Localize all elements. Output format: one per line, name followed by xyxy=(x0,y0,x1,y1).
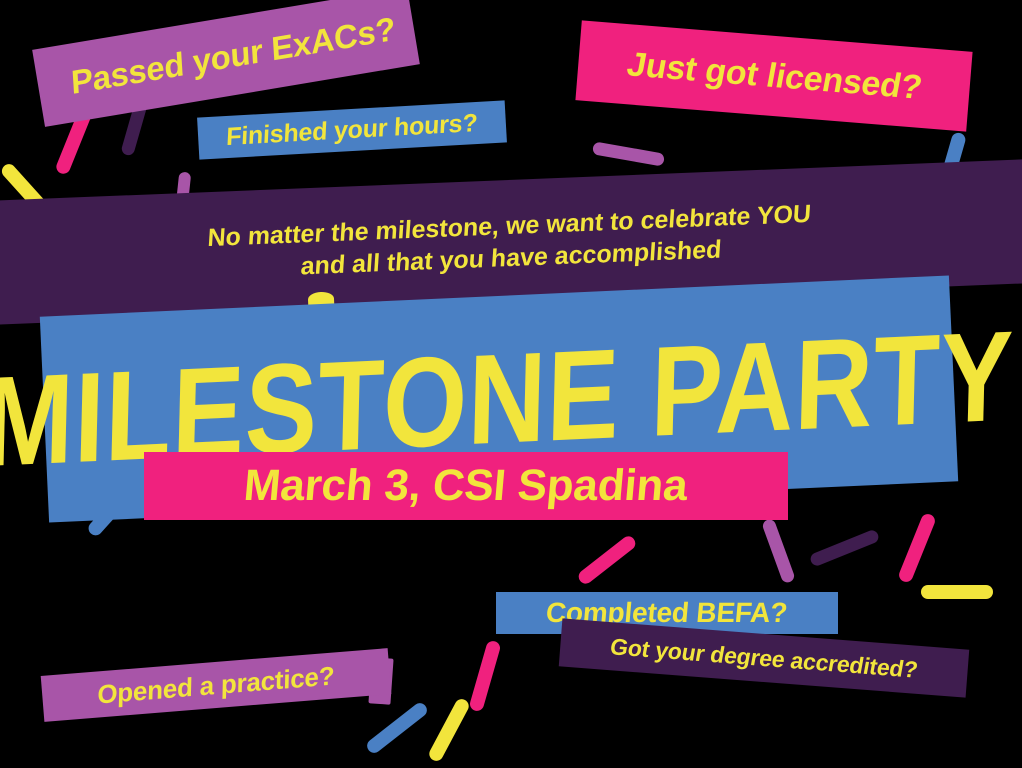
banner-finished-hours-label: Finished your hours? xyxy=(226,108,479,151)
orchid-stick-center-low xyxy=(761,518,796,584)
banner-opened-practice-label: Opened a practice? xyxy=(97,660,335,710)
yellow-stick-right-flat xyxy=(921,585,993,599)
event-date-location-label: March 3, CSI Spadina xyxy=(242,461,690,511)
banner-degree-accredited-label: Got your degree accredited? xyxy=(608,633,920,683)
poster-canvas: Passed your ExACs? Finished your hours? … xyxy=(0,0,1022,768)
blue-stick-bottom xyxy=(364,700,429,755)
banner-finished-hours: Finished your hours? xyxy=(197,100,507,159)
orchid-stick-top-right xyxy=(592,141,665,166)
banner-opened-practice: Opened a practice? xyxy=(41,648,392,722)
yellow-stick-bottom xyxy=(427,697,471,764)
banner-just-licensed-label: Just got licensed? xyxy=(623,45,924,107)
pink-stick-center-low xyxy=(576,534,638,587)
pink-stick-bottom xyxy=(468,639,501,712)
dark-purple-stick-right xyxy=(809,528,881,567)
banner-passed-exacs-label: Passed your ExACs? xyxy=(70,10,396,102)
banner-just-licensed: Just got licensed? xyxy=(575,20,972,131)
banner-event-date-location: March 3, CSI Spadina xyxy=(144,452,788,520)
pink-stick-right-low xyxy=(897,512,937,584)
